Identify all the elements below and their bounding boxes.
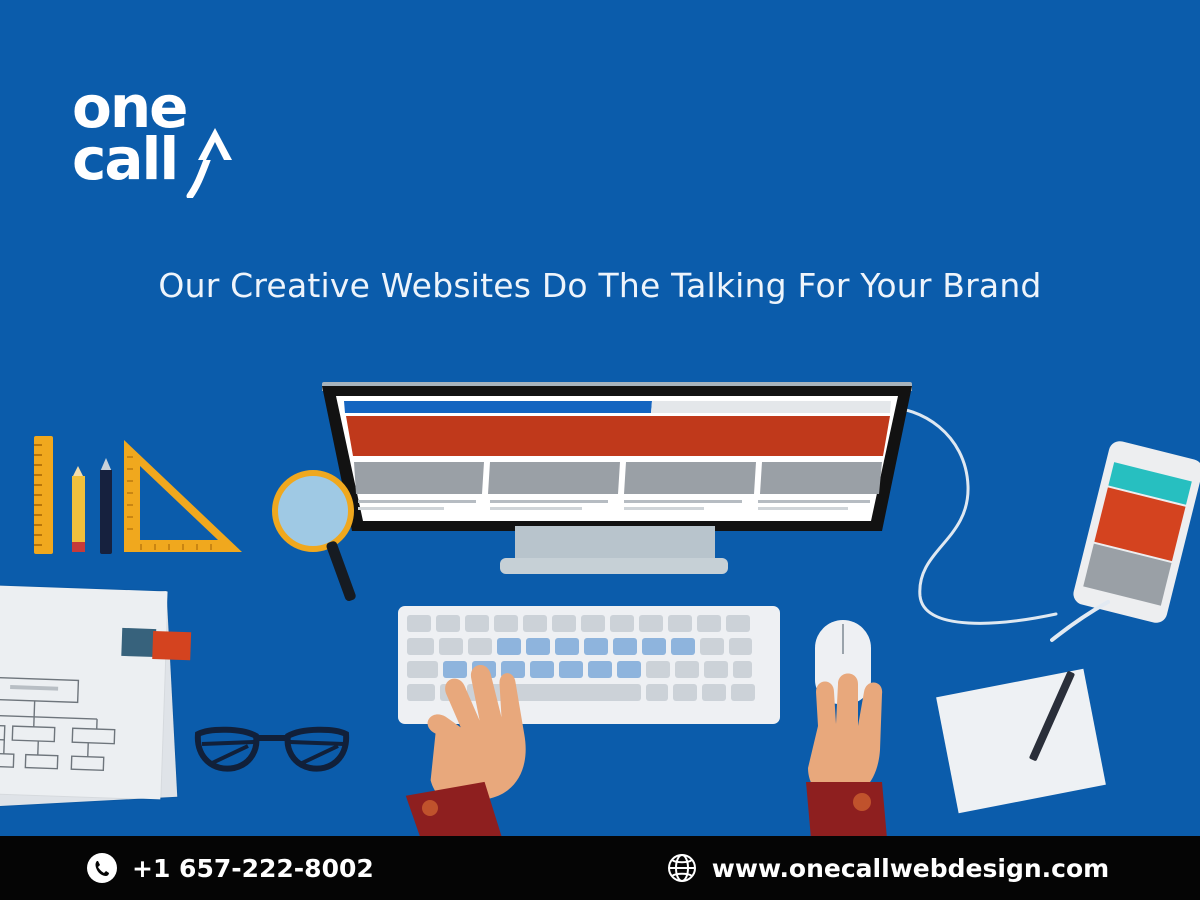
notepad [936, 669, 1106, 813]
footer-phone-number: +1 657-222-8002 [132, 854, 374, 883]
pencil-body [72, 476, 85, 542]
phone-icon [86, 852, 118, 884]
logo-text-call: call [72, 130, 177, 188]
set-square [118, 440, 248, 558]
sitemap-diagram [0, 585, 168, 800]
left-hand [398, 630, 528, 850]
contact-footer-bar: +1 657-222-8002 www.onecallwebdesign.com [0, 836, 1200, 900]
footer-phone[interactable]: +1 657-222-8002 [86, 852, 374, 884]
paper-sticker-red [152, 631, 191, 660]
magnifying-glass-icon [272, 470, 354, 552]
page-title: Our Creative Websites Do The Talking For… [0, 266, 1200, 305]
phone-cable [1050, 598, 1110, 644]
pencil [72, 466, 85, 556]
ruler [34, 436, 53, 554]
pencil-eraser [72, 542, 85, 552]
desk-illustration [0, 330, 1200, 840]
footer-website-url: www.onecallwebdesign.com [712, 854, 1109, 883]
brand-logo[interactable]: one call [72, 78, 282, 198]
upward-arrow-icon [182, 126, 244, 198]
pen-body [100, 470, 112, 554]
banner-canvas: one call Our Creative Websites Do The Ta… [0, 0, 1200, 900]
eyeglasses [192, 718, 352, 782]
pen [100, 458, 112, 556]
globe-icon [666, 852, 698, 884]
paper-sticker-blue [121, 628, 156, 657]
paper-stack [0, 576, 190, 806]
right-hand [800, 630, 910, 850]
magnifier-handle [325, 540, 357, 602]
monitor-base [500, 558, 728, 574]
desktop-monitor [322, 386, 912, 531]
paper-sheet-front [0, 585, 168, 800]
footer-website[interactable]: www.onecallwebdesign.com [666, 852, 1109, 884]
